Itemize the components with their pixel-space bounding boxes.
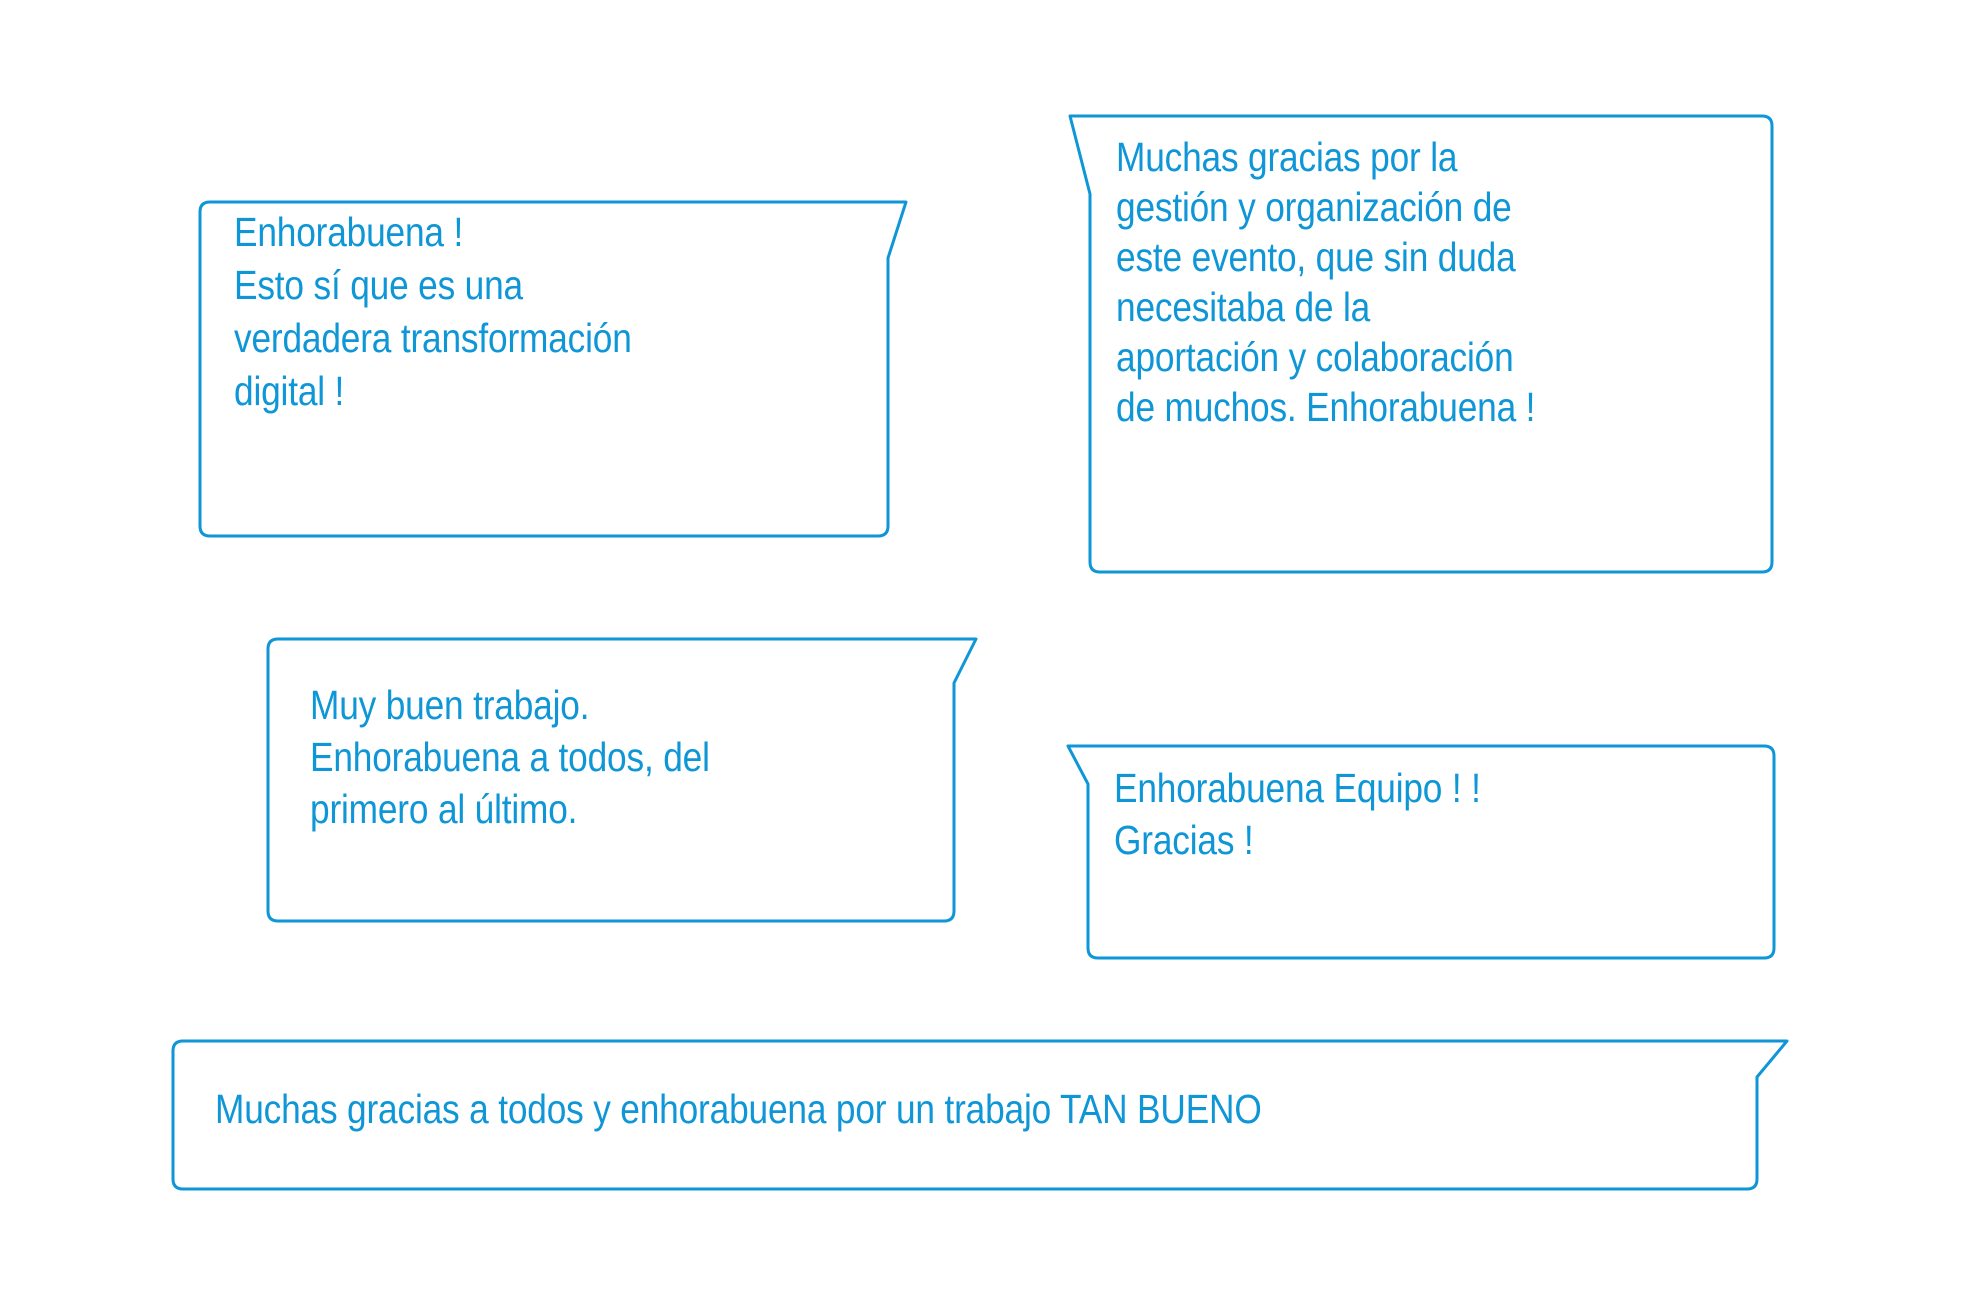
testimonial-bubbles-canvas: Enhorabuena ! Esto sí que es una verdade… xyxy=(0,0,1969,1312)
speech-bubble-text: Enhorabuena Equipo ! ! Gracias ! xyxy=(1114,762,1819,866)
speech-bubble-enhorabuena-equipo: Enhorabuena Equipo ! ! Gracias ! xyxy=(1056,720,1784,970)
speech-bubble-enhorabuena-transformacion: Enhorabuena ! Esto sí que es una verdade… xyxy=(188,160,910,538)
speech-bubble-text: Muchas gracias por la gestión y organiza… xyxy=(1116,132,1821,432)
speech-bubble-text: Muchas gracias a todos y enhorabuena por… xyxy=(215,1085,1763,1133)
speech-bubble-muchas-gracias-gestion: Muchas gracias por la gestión y organiza… xyxy=(1058,90,1784,584)
speech-bubble-text: Enhorabuena ! Esto sí que es una verdade… xyxy=(234,206,836,418)
speech-bubble-text: Muy buen trabajo. Enhorabuena a todos, d… xyxy=(310,679,998,835)
speech-bubble-muy-buen-trabajo: Muy buen trabajo. Enhorabuena a todos, d… xyxy=(258,633,982,925)
speech-bubble-trabajo-tan-bueno: Muchas gracias a todos y enhorabuena por… xyxy=(165,1035,1795,1195)
